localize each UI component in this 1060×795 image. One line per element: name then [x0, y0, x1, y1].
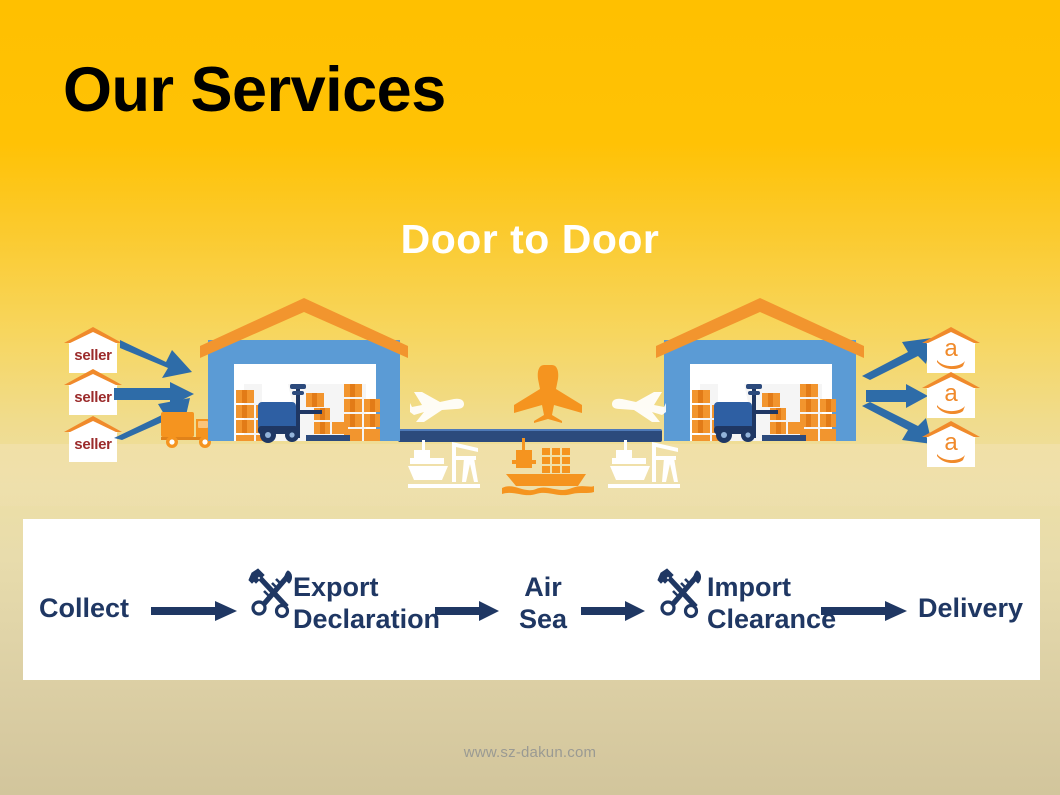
process-flow: Collect Export Declaration [23, 519, 1040, 680]
port-crane-icon-left [408, 436, 480, 494]
flow-step-import-line2: Clearance [707, 603, 836, 635]
airplane-icon-faded-right [610, 390, 666, 424]
flow-arrow-icon-3 [581, 601, 645, 621]
customs-icon-import [657, 567, 703, 619]
page-title: Our Services [63, 57, 446, 123]
port-crane-icon-right [608, 436, 680, 494]
amazon-node-2: a [922, 372, 980, 418]
flow-step-delivery[interactable]: Delivery [918, 593, 1023, 625]
subtitle-door-to-door: Door to Door [0, 216, 1060, 263]
logistics-illustration: seller seller seller [0, 296, 1060, 506]
process-flow-panel: Collect Export Declaration [23, 519, 1040, 680]
flow-step-air: Air [513, 571, 573, 603]
origin-warehouse [196, 298, 412, 450]
airplane-icon [512, 363, 586, 423]
destination-warehouse [652, 298, 868, 450]
seller-label: seller [64, 347, 122, 364]
flow-step-export-line2: Declaration [293, 603, 440, 635]
cargo-ship-icon [500, 436, 596, 496]
amazon-node-1: a [922, 327, 980, 373]
flow-step-air-sea[interactable]: Air Sea [513, 571, 573, 636]
customs-icon-export [248, 567, 294, 619]
seller-node-1: seller [64, 327, 122, 373]
flow-step-export-line1: Export [293, 571, 440, 603]
slide-canvas: Our Services Door to Door seller seller … [0, 0, 1060, 795]
flow-step-collect[interactable]: Collect [39, 593, 129, 625]
flow-step-import-clearance[interactable]: Import Clearance [707, 571, 836, 636]
flow-arrow-icon-1 [151, 601, 237, 621]
flow-arrow-icon-4 [821, 601, 907, 621]
airplane-icon-faded-left [410, 390, 466, 424]
amazon-smile-icon [936, 452, 966, 464]
flow-step-sea: Sea [513, 603, 573, 635]
footer-url: www.sz-dakun.com [0, 744, 1060, 761]
amazon-smile-icon [936, 358, 966, 370]
inbound-arrow-icon-1 [118, 336, 194, 380]
flow-arrow-icon-2 [435, 601, 499, 621]
flow-step-import-line1: Import [707, 571, 836, 603]
amazon-smile-icon [936, 403, 966, 415]
amazon-node-3: a [922, 421, 980, 467]
flow-step-export-declaration[interactable]: Export Declaration [293, 571, 440, 636]
